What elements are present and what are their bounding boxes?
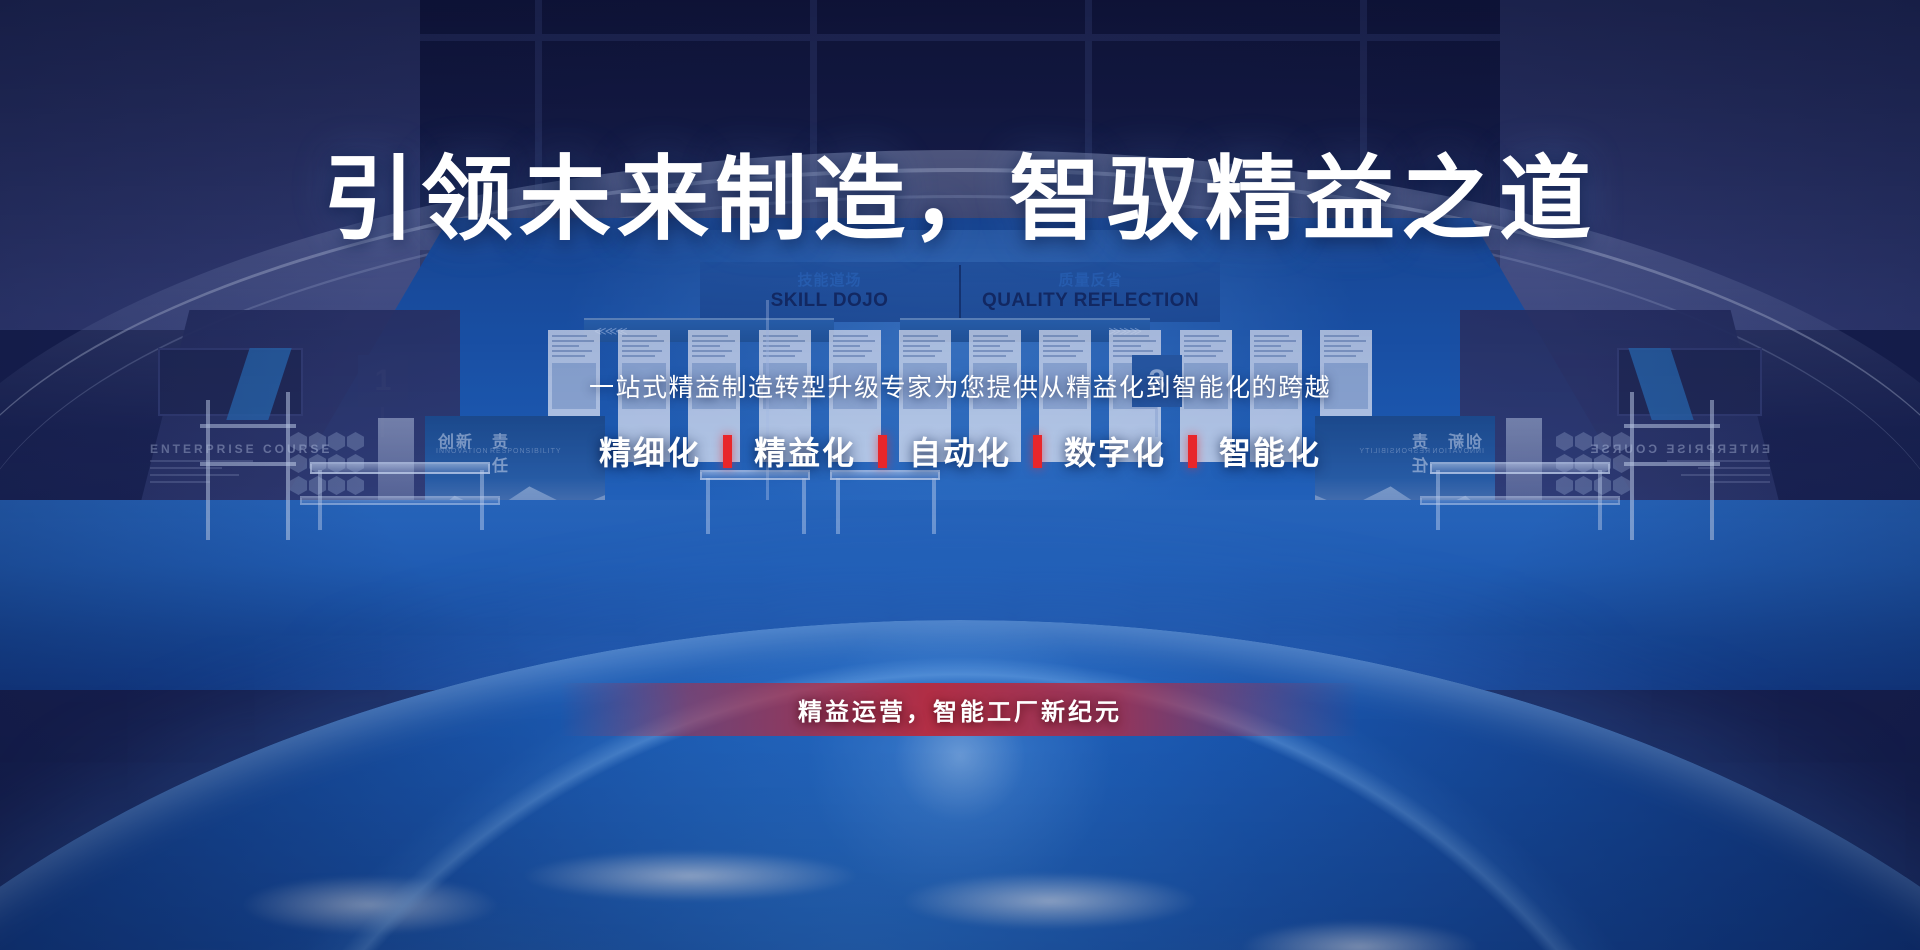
keyword-item: 数字化 [1064,428,1166,474]
keyword-separator-icon [1033,435,1042,468]
hero-content: 引领未来制造，智驭精益之道 一站式精益制造转型升级专家为您提供从精益化到智能化的… [0,0,1920,950]
keyword-item: 智能化 [1219,428,1321,474]
page-title: 引领未来制造，智驭精益之道 [0,125,1920,258]
keyword-separator-icon [723,435,732,468]
hero-subtitle: 一站式精益制造转型升级专家为您提供从精益化到智能化的跨越 [0,368,1920,404]
keyword-separator-icon [1188,435,1197,468]
keyword-item: 精益化 [754,428,856,474]
keyword-item: 自动化 [909,428,1011,474]
keyword-list: 精细化 精益化 自动化 数字化 智能化 [0,428,1920,474]
hero-banner: 技能道场 SKILL DOJO 质量反省 QUALITY REFLECTION … [0,0,1920,950]
keyword-separator-icon [878,435,887,468]
keyword-item: 精细化 [599,428,701,474]
tagline-ribbon: 精益运营，智能工厂新纪元 [560,683,1360,736]
tagline-text: 精益运营，智能工厂新纪元 [798,692,1122,727]
